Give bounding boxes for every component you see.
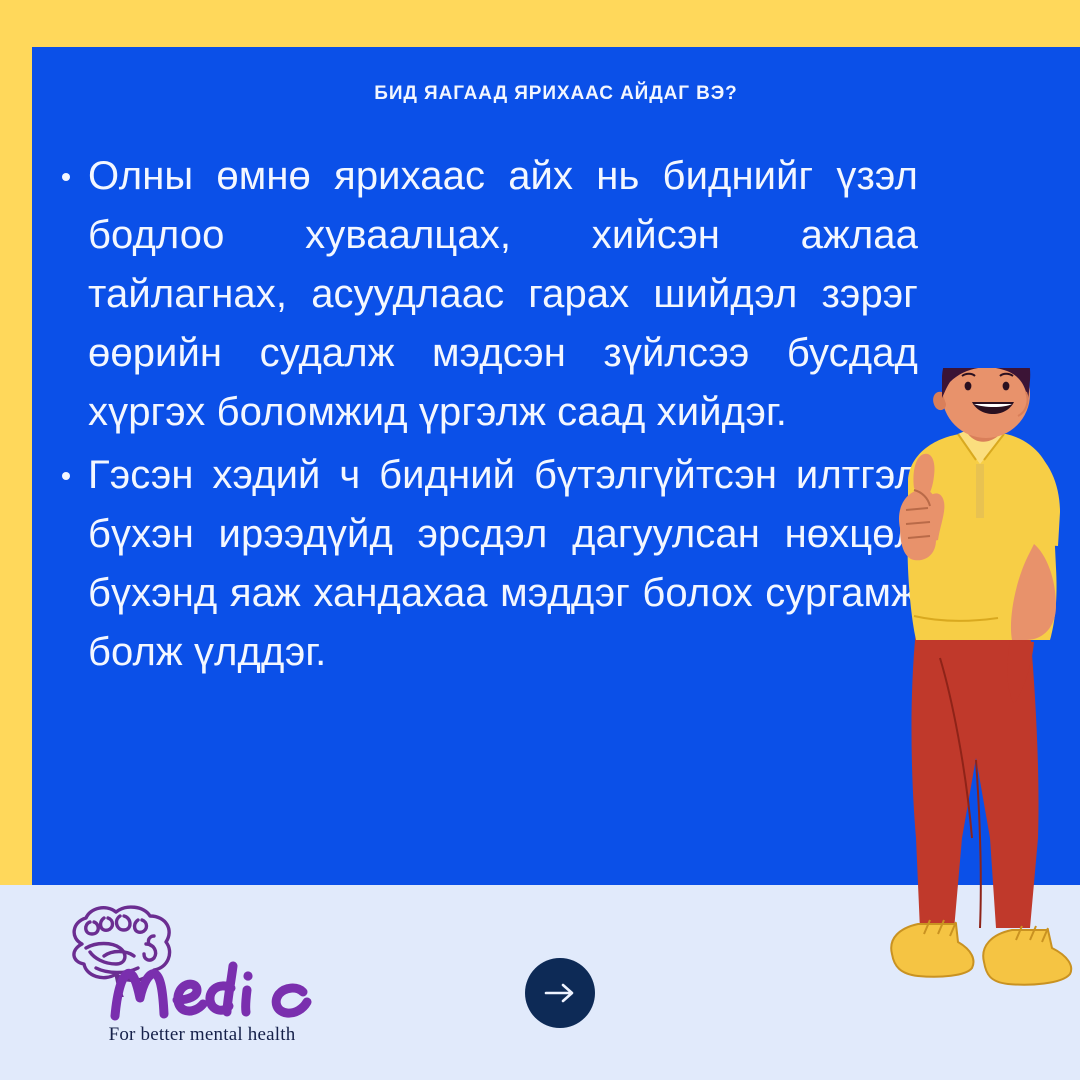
arrow-right-icon bbox=[543, 981, 577, 1005]
bullet-list: Олны өмнө ярихаас айх нь биднийг үзэл бо… bbox=[48, 147, 918, 686]
bullet-dot-icon bbox=[62, 472, 70, 480]
slide-card: БИД ЯАГААД ЯРИХААС АЙДАГ ВЭ? Олны өмнө я… bbox=[0, 0, 1080, 1080]
wordmark-medic: Medic bbox=[107, 960, 327, 1022]
bullet-dot-icon bbox=[62, 173, 70, 181]
next-button[interactable] bbox=[525, 958, 595, 1028]
list-item: Олны өмнө ярихаас айх нь биднийг үзэл бо… bbox=[48, 147, 918, 442]
list-item-text: Гэсэн хэдий ч бидний бүтэлгүйтсэн илтгэл… bbox=[88, 453, 918, 674]
content-panel: БИД ЯАГААД ЯРИХААС АЙДАГ ВЭ? Олны өмнө я… bbox=[32, 47, 1080, 885]
page-title: БИД ЯАГААД ЯРИХААС АЙДАГ ВЭ? bbox=[32, 83, 1080, 105]
list-item-text: Олны өмнө ярихаас айх нь биднийг үзэл бо… bbox=[88, 154, 918, 434]
list-item: Гэсэн хэдий ч бидний бүтэлгүйтсэн илтгэл… bbox=[48, 446, 918, 682]
brand-logo: Medic For better mental health bbox=[55, 902, 345, 1052]
brand-tagline: For better mental health bbox=[67, 1024, 337, 1046]
